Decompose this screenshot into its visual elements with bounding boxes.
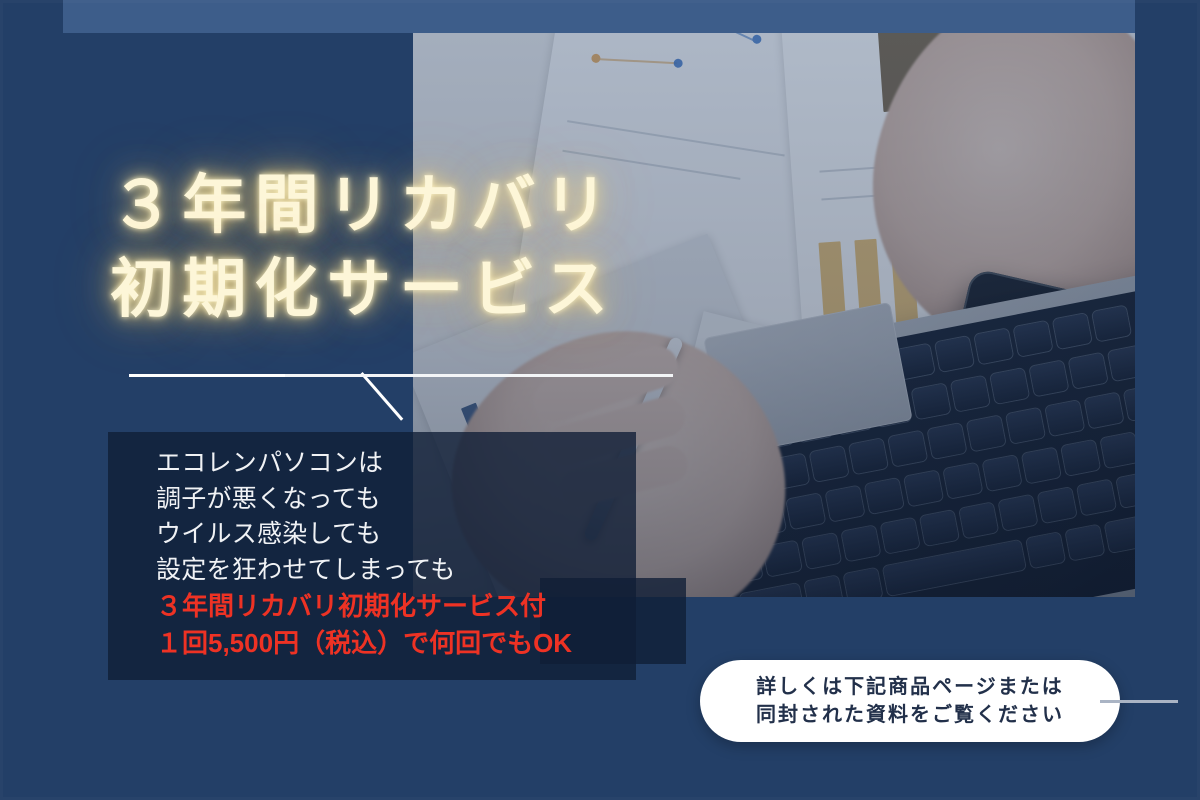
copy-line: エコレンパソコンは (156, 446, 618, 482)
callout-line: 同封された資料をご覧ください (756, 702, 1064, 728)
copy-line: 設定を狂わせてしまっても (156, 553, 618, 589)
callout-tail-line (1100, 700, 1178, 703)
copy-line: ウイルス感染しても (156, 517, 618, 553)
copy-accent-line: ３年間リカバリ初期化サービス付 (156, 588, 618, 625)
pointer-rule-right (285, 374, 673, 377)
copy-line: 調子が悪くなっても (156, 482, 618, 518)
callout-line: 詳しくは下記商品ページまたは (756, 674, 1064, 700)
banner-canvas: ３年間リカバリ初期化サービス エコレンパソコンは 調子が悪くなっても ウイルス感… (0, 0, 1200, 800)
callout-pill[interactable]: 詳しくは下記商品ページまたは 同封された資料をご覧ください (700, 660, 1120, 742)
page-title: ３年間リカバリ初期化サービス (110, 163, 870, 332)
copy-accent-line: １回5,500円（税込）で何回でもOK (156, 625, 618, 662)
copy-panel: エコレンパソコンは 調子が悪くなっても ウイルス感染しても 設定を狂わせてしまっ… (108, 432, 636, 680)
headline-line-2: 初期化サービス (110, 247, 870, 331)
headline-line-1: ３年間リカバリ (110, 163, 870, 247)
